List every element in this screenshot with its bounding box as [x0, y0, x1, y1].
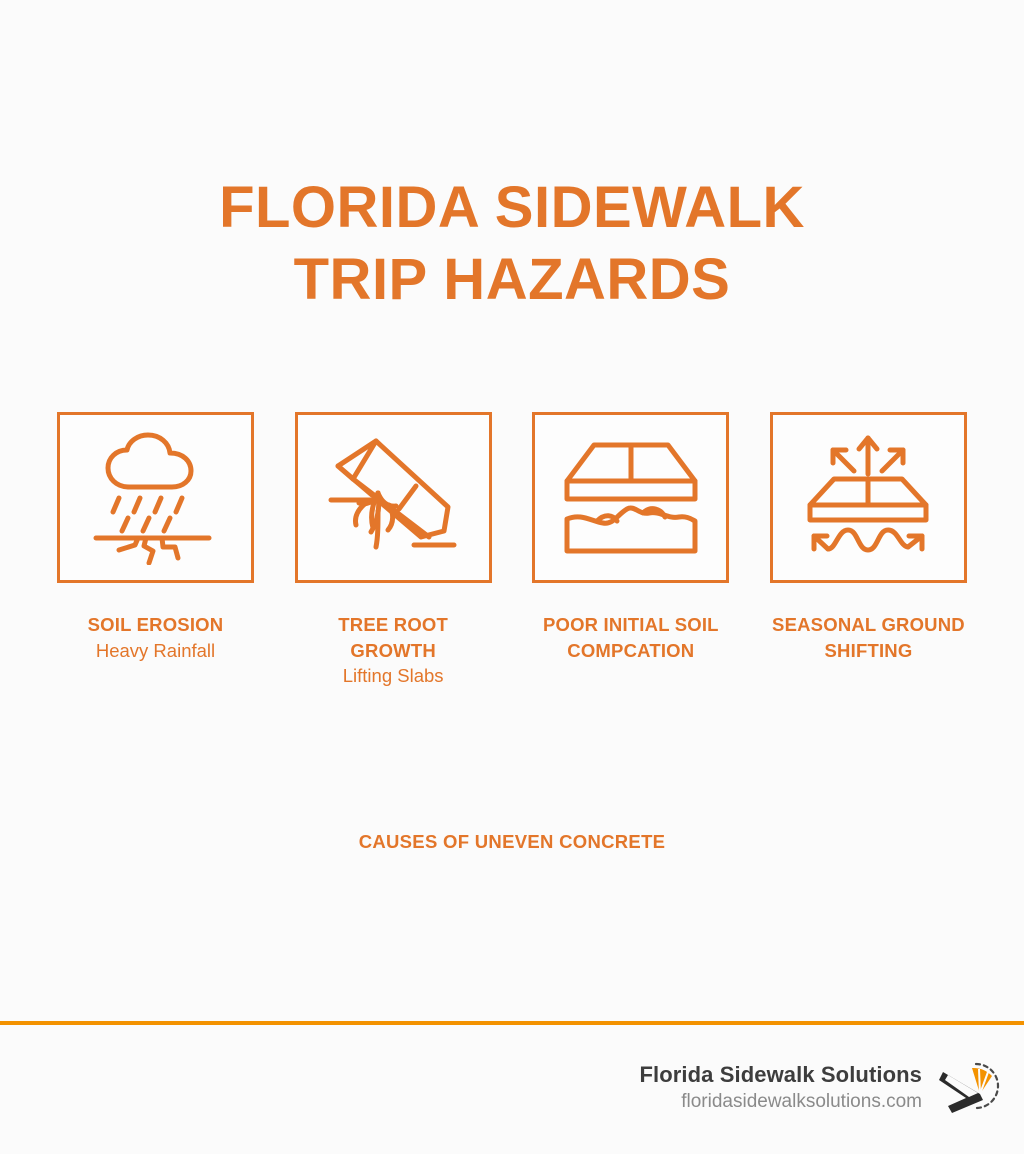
- icon-box-poor-soil-compaction: [532, 412, 729, 583]
- page-title: FLORIDA SIDEWALK TRIP HAZARDS: [0, 172, 1024, 316]
- section-label: CAUSES OF UNEVEN CONCRETE: [0, 831, 1024, 853]
- brand-name: Florida Sidewalk Solutions: [639, 1061, 922, 1089]
- brand-url: floridasidewalksolutions.com: [639, 1089, 922, 1114]
- florida-sidewalk-solutions-logo: [936, 1056, 1002, 1118]
- caption-title: POOR INITIAL SOIL COMPCATION: [532, 612, 729, 663]
- hazard-card-soil-erosion: SOIL EROSION Heavy Rainfall: [57, 412, 254, 689]
- tree-root-lifting-slab-icon: [326, 433, 461, 563]
- caption-poor-soil-compaction: POOR INITIAL SOIL COMPCATION: [532, 612, 729, 663]
- hazard-card-tree-root-growth: TREE ROOT GROWTH Lifting Slabs: [295, 412, 492, 689]
- caption-subtitle: Lifting Slabs: [295, 663, 492, 689]
- footer-text: Florida Sidewalk Solutions floridasidewa…: [639, 1061, 922, 1114]
- caption-subtitle: Heavy Rainfall: [57, 638, 254, 664]
- footer: Florida Sidewalk Solutions floridasidewa…: [639, 1056, 1002, 1118]
- caption-title: SEASONAL GROUND SHIFTING: [770, 612, 967, 663]
- slab-over-uneven-soil-icon: [561, 439, 701, 557]
- caption-tree-root-growth: TREE ROOT GROWTH Lifting Slabs: [295, 612, 492, 689]
- icon-box-tree-root-growth: [295, 412, 492, 583]
- rain-cloud-soil-erosion-icon: [91, 430, 221, 565]
- title-line-1: FLORIDA SIDEWALK: [0, 172, 1024, 244]
- icon-box-soil-erosion: [57, 412, 254, 583]
- caption-seasonal-ground-shifting: SEASONAL GROUND SHIFTING: [770, 612, 967, 663]
- hazard-cards-row: SOIL EROSION Heavy Rainfall: [57, 412, 967, 689]
- caption-title: SOIL EROSION: [57, 612, 254, 638]
- footer-divider: [0, 1021, 1024, 1025]
- hazard-card-poor-soil-compaction: POOR INITIAL SOIL COMPCATION: [532, 412, 729, 689]
- caption-title: TREE ROOT GROWTH: [295, 612, 492, 663]
- caption-soil-erosion: SOIL EROSION Heavy Rainfall: [57, 612, 254, 663]
- hazard-card-seasonal-ground-shifting: SEASONAL GROUND SHIFTING: [770, 412, 967, 689]
- infographic-canvas: FLORIDA SIDEWALK TRIP HAZARDS: [0, 0, 1024, 1154]
- icon-box-seasonal-ground-shifting: [770, 412, 967, 583]
- title-line-2: TRIP HAZARDS: [0, 244, 1024, 316]
- slab-expansion-arrows-icon: [798, 432, 938, 564]
